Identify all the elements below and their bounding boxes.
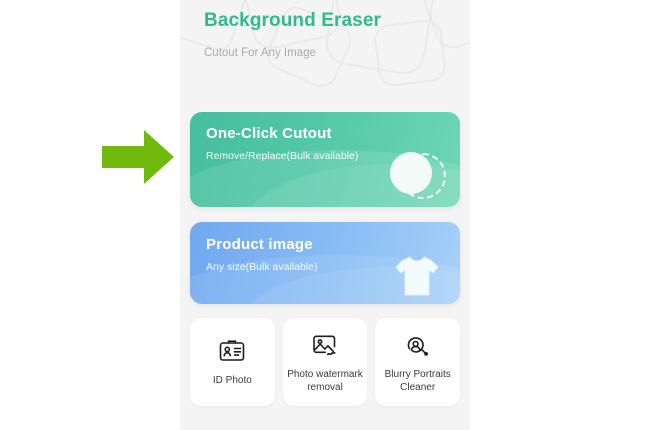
tile-label: Blurry Portraits Cleaner — [375, 368, 460, 394]
app-panel: Background Eraser Cutout For Any Image O… — [180, 0, 470, 430]
card-subtitle: Remove/Replace(Bulk available) — [206, 150, 358, 162]
tile-id-photo[interactable]: ID Photo — [190, 318, 275, 406]
page-subtitle: Cutout For Any Image — [204, 44, 454, 62]
cutout-circle-icon — [382, 147, 448, 205]
card-product-image[interactable]: Product image Any size(Bulk available) — [190, 222, 460, 304]
card-one-click-cutout[interactable]: One-Click Cutout Remove/Replace(Bulk ava… — [190, 112, 460, 207]
solid-circle-icon — [390, 152, 432, 194]
id-badge-icon — [218, 337, 246, 365]
tile-label: ID Photo — [209, 374, 256, 387]
page-canvas: Background Eraser Cutout For Any Image O… — [0, 0, 650, 430]
tshirt-icon — [392, 252, 442, 300]
tool-tiles: ID Photo Photo watermark removal — [190, 318, 460, 406]
card-title: One-Click Cutout — [206, 125, 332, 142]
tile-label: Photo watermark removal — [283, 368, 368, 394]
portrait-magnifier-icon — [404, 331, 432, 359]
page-title: Background Eraser — [204, 8, 454, 34]
annotation-right-arrow-icon — [100, 128, 176, 186]
image-erase-icon — [311, 331, 339, 359]
card-title: Product image — [206, 236, 313, 253]
tile-photo-watermark-removal[interactable]: Photo watermark removal — [283, 318, 368, 406]
card-subtitle: Any size(Bulk available) — [206, 261, 317, 273]
tile-blurry-portraits-cleaner[interactable]: Blurry Portraits Cleaner — [375, 318, 460, 406]
header: Background Eraser Cutout For Any Image — [204, 8, 454, 62]
